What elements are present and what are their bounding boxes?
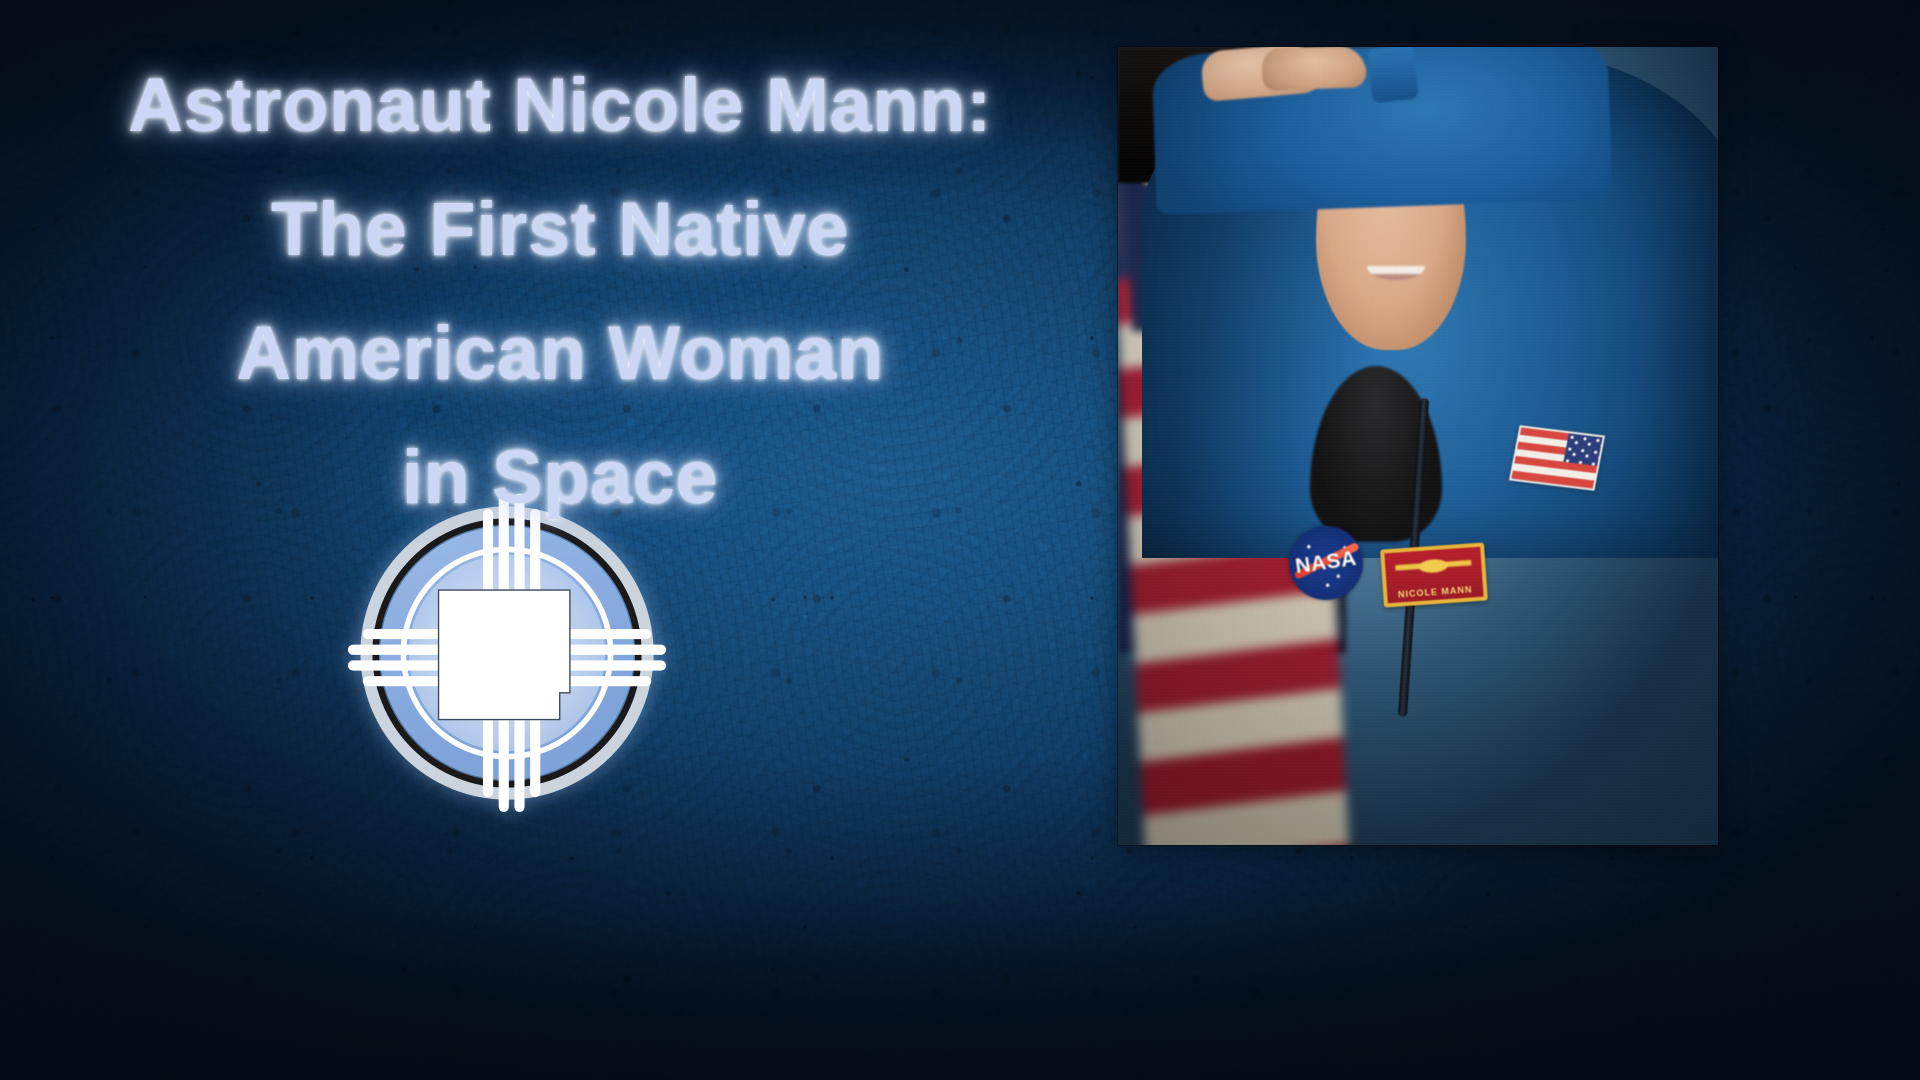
new-mexico-state-shape (439, 590, 570, 720)
page-title: Astronaut Nicole Mann: The First Native … (0, 44, 1120, 540)
photo-vignette (1118, 47, 1718, 845)
slide-canvas: Astronaut Nicole Mann: The First Native … (0, 0, 1920, 1080)
astronaut-portrait-photo: NASA NICOLE MANN (1118, 47, 1718, 845)
title-line-1: Astronaut Nicole Mann: (0, 44, 1120, 168)
title-line-2: The First Native (0, 168, 1120, 292)
title-line-3: American Woman (0, 292, 1120, 416)
title-line-4: in Space (0, 416, 1120, 540)
